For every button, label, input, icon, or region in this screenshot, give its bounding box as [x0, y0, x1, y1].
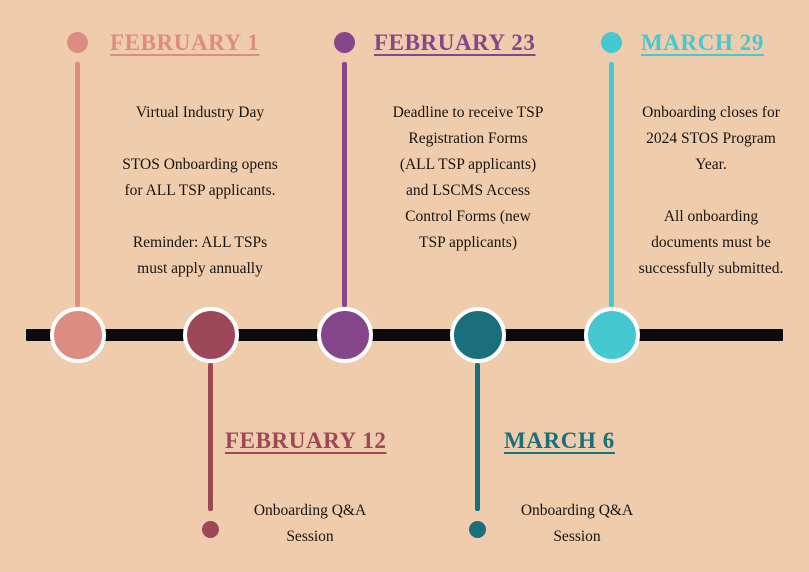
timeline-infographic: FEBRUARY 1 Virtual Industry Day STOS Onb… — [0, 0, 809, 572]
desc-subline: Registration Forms — [408, 130, 527, 147]
desc-line: Onboarding Q&A Session — [492, 498, 662, 550]
desc-subline: STOS Onboarding opens — [122, 156, 278, 173]
desc-subline: Deadline to receive TSP — [393, 104, 544, 121]
stem-march-29 — [609, 62, 614, 307]
description-march-6: Onboarding Q&A Session — [492, 498, 662, 550]
desc-line: Onboarding Q&A Session — [225, 498, 395, 550]
desc-line: Deadline to receive TSP Registration For… — [358, 100, 578, 256]
date-title-feb-12: FEBRUARY 12 — [225, 428, 386, 454]
desc-subline: (ALL TSP applicants) — [400, 156, 536, 173]
description-march-29: Onboarding closes for 2024 STOS Program … — [618, 100, 804, 282]
stem-feb-23 — [342, 62, 347, 307]
stem-feb-1 — [75, 62, 80, 307]
desc-subline: Session — [553, 528, 600, 545]
desc-subline: documents must be — [651, 234, 771, 251]
desc-subline: 2024 STOS Program — [646, 130, 776, 147]
desc-line: STOS Onboarding opens for ALL TSP applic… — [85, 152, 315, 204]
timeline-axis — [26, 329, 783, 341]
desc-subline: All onboarding — [664, 208, 758, 225]
marker-dot-march-6 — [469, 521, 486, 538]
date-title-march-6: MARCH 6 — [504, 428, 615, 454]
desc-subline: Year. — [695, 156, 727, 173]
desc-line: Virtual Industry Day — [85, 100, 315, 126]
date-title-feb-1: FEBRUARY 1 — [110, 30, 259, 56]
timeline-node-feb-1[interactable] — [50, 307, 106, 363]
marker-dot-feb-1 — [67, 32, 88, 53]
desc-subline: Onboarding Q&A — [521, 502, 633, 519]
date-title-march-29: MARCH 29 — [641, 30, 764, 56]
description-feb-12: Onboarding Q&A Session — [225, 498, 395, 550]
desc-subline: Control Forms (new — [405, 208, 531, 225]
marker-dot-march-29 — [601, 32, 622, 53]
description-feb-23: Deadline to receive TSP Registration For… — [358, 100, 578, 256]
desc-subline: Session — [286, 528, 333, 545]
desc-subline: Onboarding Q&A — [254, 502, 366, 519]
desc-subline: successfully submitted. — [639, 260, 784, 277]
timeline-node-march-6[interactable] — [450, 307, 506, 363]
marker-dot-feb-12 — [202, 521, 219, 538]
timeline-node-march-29[interactable] — [584, 307, 640, 363]
desc-subline: Reminder: ALL TSPs — [133, 234, 267, 251]
desc-line: All onboarding documents must be success… — [618, 204, 804, 282]
desc-subline: TSP applicants) — [419, 234, 517, 251]
stem-feb-12 — [208, 363, 213, 511]
stem-march-6 — [475, 363, 480, 511]
description-feb-1: Virtual Industry Day STOS Onboarding ope… — [85, 100, 315, 282]
timeline-node-feb-23[interactable] — [317, 307, 373, 363]
desc-subline: and LSCMS Access — [406, 182, 530, 199]
timeline-node-feb-12[interactable] — [183, 307, 239, 363]
desc-subline: for ALL TSP applicants. — [125, 182, 276, 199]
marker-dot-feb-23 — [334, 32, 355, 53]
desc-subline: must apply annually — [137, 260, 263, 277]
date-title-feb-23: FEBRUARY 23 — [374, 30, 535, 56]
desc-line: Reminder: ALL TSPs must apply annually — [85, 230, 315, 282]
desc-line: Onboarding closes for 2024 STOS Program … — [618, 100, 804, 178]
desc-subline: Onboarding closes for — [642, 104, 780, 121]
